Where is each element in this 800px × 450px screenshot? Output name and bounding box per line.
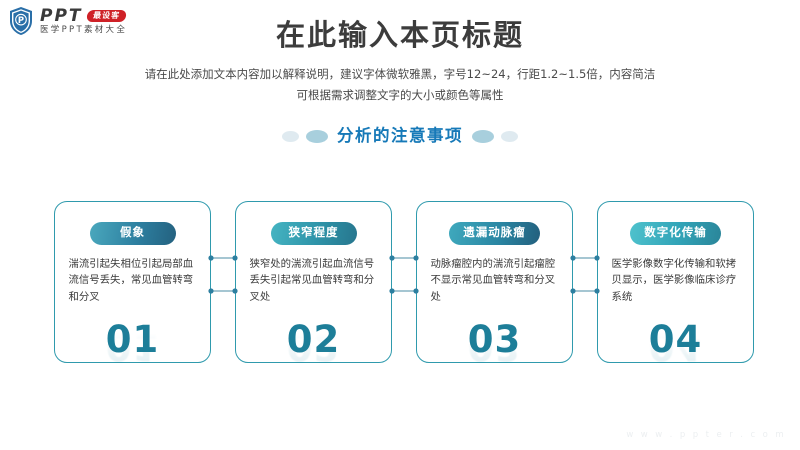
card-body-02: 狭窄处的湍流引起血流信号丢失引起常见血管转弯和分叉处	[250, 256, 378, 307]
card-number-04: 04	[598, 321, 753, 358]
card-02[interactable]: 狭窄程度 狭窄处的湍流引起血流信号丢失引起常见血管转弯和分叉处 02 02	[235, 201, 392, 363]
page-subtitle: 请在此处添加文本内容加以解释说明，建议字体微软雅黑，字号12~24，行距1.2~…	[0, 64, 800, 107]
card-number-02: 02	[236, 321, 391, 358]
card-badge-04: 数字化传输	[630, 222, 721, 245]
card-badge-03: 遗漏动脉瘤	[449, 222, 540, 245]
card-01[interactable]: 假象 湍流引起失相位引起局部血流信号丢失，常见血管转弯和分叉 01 01	[54, 201, 211, 363]
page-title: 在此输入本页标题	[0, 18, 800, 53]
cards-row: 假象 湍流引起失相位引起局部血流信号丢失，常见血管转弯和分叉 01 01 狭窄程…	[54, 201, 754, 363]
card-body-04: 医学影像数字化传输和软拷贝显示，医学影像临床诊疗系统	[612, 256, 740, 307]
card-04[interactable]: 数字化传输 医学影像数字化传输和软拷贝显示，医学影像临床诊疗系统 04 04	[597, 201, 754, 363]
card-03[interactable]: 遗漏动脉瘤 动脉瘤腔内的湍流引起瘤腔不显示常见血管转弯和分叉处 03 03	[416, 201, 573, 363]
page-subtitle-line-1: 请在此处添加文本内容加以解释说明，建议字体微软雅黑，字号12~24，行距1.2~…	[0, 64, 800, 85]
card-body-01: 湍流引起失相位引起局部血流信号丢失，常见血管转弯和分叉	[69, 256, 197, 307]
card-body-03: 动脉瘤腔内的湍流引起瘤腔不显示常见血管转弯和分叉处	[431, 256, 559, 307]
site-watermark: w w w . p p t e r . c o m	[626, 430, 786, 440]
decorative-oval-right-outer-icon	[501, 131, 518, 142]
card-badge-02: 狭窄程度	[271, 222, 357, 245]
decorative-oval-left-outer-icon	[282, 131, 299, 142]
page-subtitle-line-2: 可根据需求调整文字的大小或颜色等属性	[0, 85, 800, 106]
decorative-oval-left-inner-icon	[306, 130, 328, 143]
card-badge-01: 假象	[90, 222, 176, 245]
section-heading-text: 分析的注意事项	[335, 128, 465, 145]
section-heading: 分析的注意事项	[0, 128, 800, 145]
card-number-03: 03	[417, 321, 572, 358]
decorative-oval-right-inner-icon	[472, 130, 494, 143]
card-number-01: 01	[55, 321, 210, 358]
